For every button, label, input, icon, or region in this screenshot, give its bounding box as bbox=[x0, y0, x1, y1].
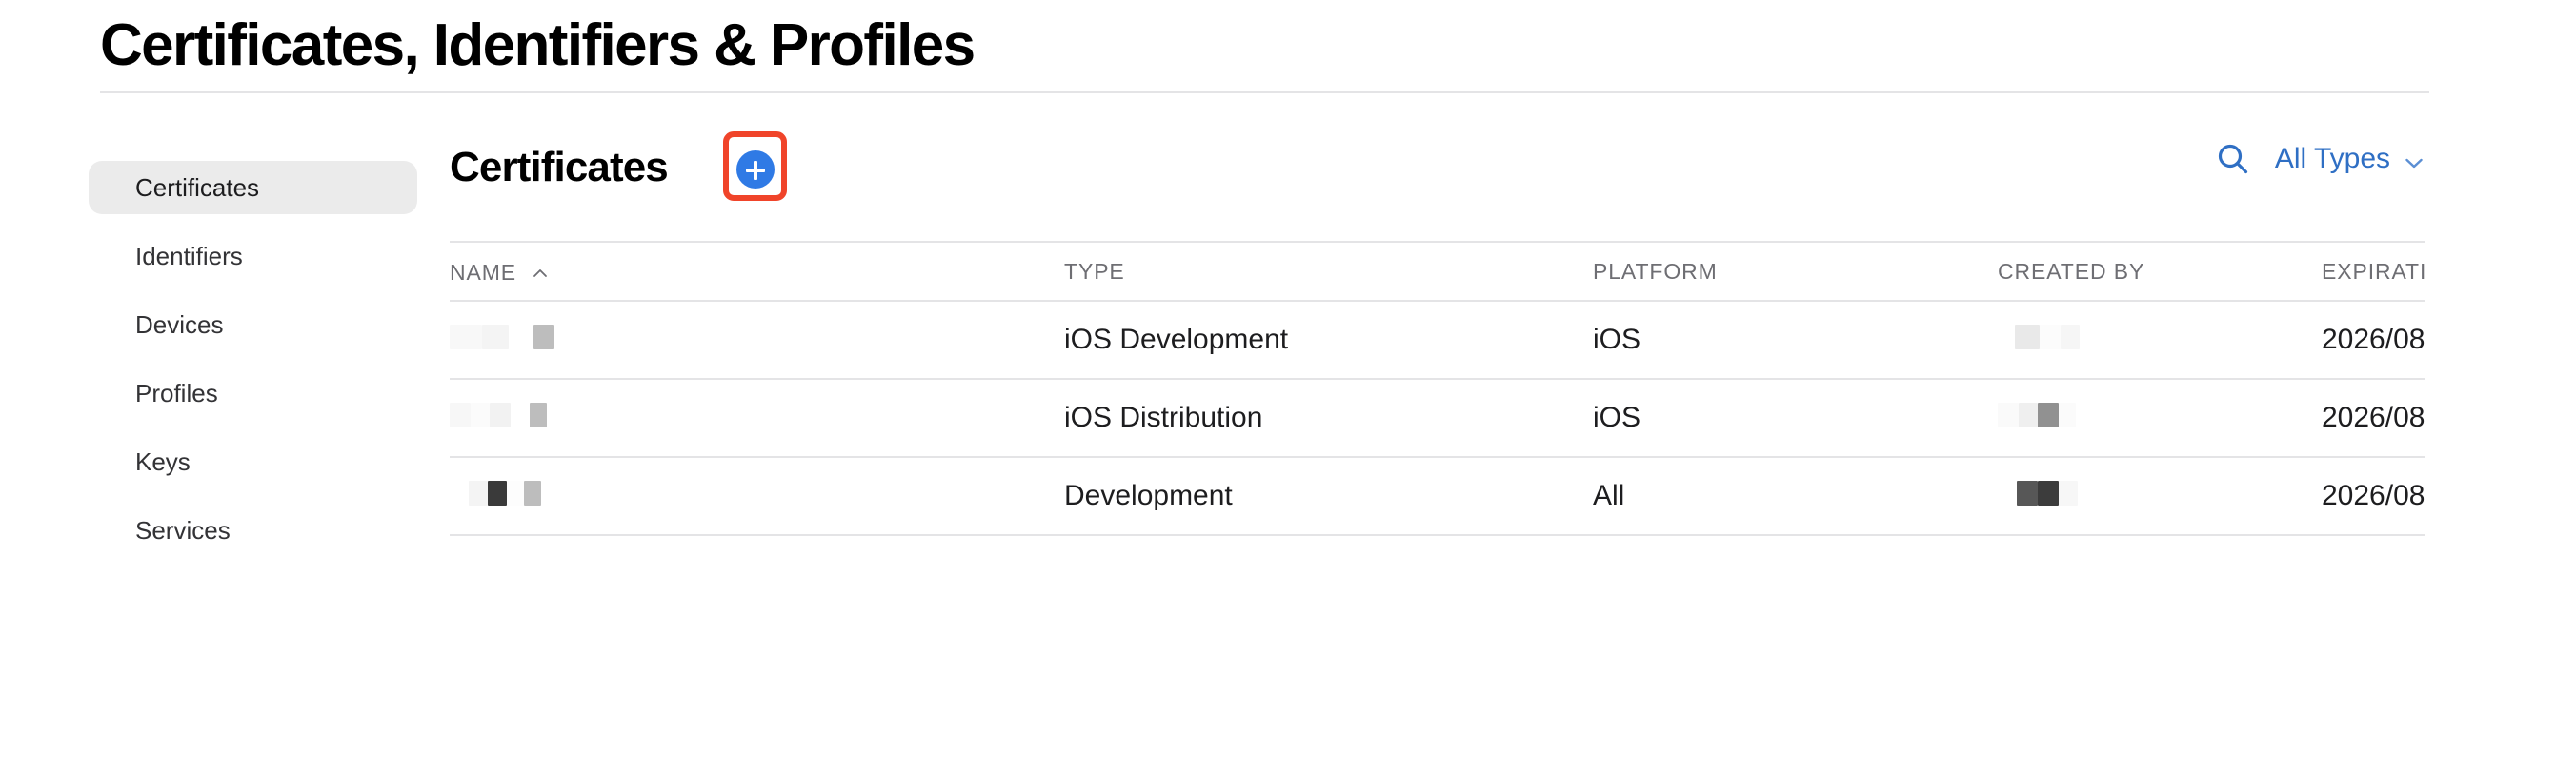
table-bottom-divider bbox=[450, 534, 2425, 536]
sidebar-item-label: Services bbox=[135, 516, 231, 545]
redacted-created-by bbox=[1998, 323, 2080, 351]
plus-circle-icon[interactable] bbox=[736, 150, 775, 189]
certificates-table: NAME TYPE PLATFORM CREATED BY EXPIRATION bbox=[450, 241, 2425, 536]
sidebar-item-label: Certificates bbox=[135, 173, 259, 202]
column-header-name[interactable]: NAME bbox=[450, 258, 1064, 286]
cell-type: iOS Development bbox=[1064, 324, 1593, 356]
content-header: Certificates All Types bbox=[450, 100, 2425, 201]
title-divider bbox=[100, 91, 2429, 93]
sidebar-item-label: Profiles bbox=[135, 379, 218, 407]
cell-name bbox=[450, 479, 1064, 513]
type-filter-dropdown[interactable]: All Types bbox=[2275, 143, 2425, 175]
cell-platform: All bbox=[1593, 480, 1998, 512]
sidebar-item-services[interactable]: Services bbox=[89, 504, 417, 557]
sidebar-item-keys[interactable]: Keys bbox=[89, 435, 417, 488]
cell-created-by bbox=[1998, 323, 2322, 357]
table-row[interactable]: iOS Development iOS 2026/08/15 bbox=[450, 300, 2425, 378]
sidebar-item-devices[interactable]: Devices bbox=[89, 298, 417, 351]
sidebar-item-identifiers[interactable]: Identifiers bbox=[89, 229, 417, 283]
column-header-type[interactable]: TYPE bbox=[1064, 259, 1593, 285]
sidebar-item-certificates[interactable]: Certificates bbox=[89, 161, 417, 214]
redacted-name bbox=[450, 479, 541, 507]
sidebar-item-label: Identifiers bbox=[135, 242, 243, 270]
column-header-expiration[interactable]: EXPIRATION bbox=[2322, 259, 2425, 285]
sidebar-item-label: Devices bbox=[135, 310, 223, 339]
page-header: Certificates, Identifiers & Profiles bbox=[0, 0, 2576, 100]
redacted-created-by bbox=[1998, 479, 2078, 507]
page-title: Certificates, Identifiers & Profiles bbox=[100, 11, 974, 79]
sidebar-item-profiles[interactable]: Profiles bbox=[89, 367, 417, 420]
redacted-name bbox=[450, 401, 547, 429]
column-header-name-label: NAME bbox=[450, 260, 516, 285]
type-filter-label: All Types bbox=[2275, 143, 2390, 175]
redacted-name bbox=[450, 323, 554, 351]
sidebar-item-label: Keys bbox=[135, 447, 191, 476]
cell-platform: iOS bbox=[1593, 324, 1998, 356]
table-header-row: NAME TYPE PLATFORM CREATED BY EXPIRATION bbox=[450, 241, 2425, 300]
cell-expiration: 2026/08/15 bbox=[2322, 324, 2425, 356]
cell-type: iOS Distribution bbox=[1064, 402, 1593, 434]
cell-created-by bbox=[1998, 479, 2322, 513]
column-header-created-by[interactable]: CREATED BY bbox=[1998, 259, 2322, 285]
cell-name bbox=[450, 401, 1064, 435]
cell-platform: iOS bbox=[1593, 402, 1998, 434]
search-icon[interactable] bbox=[2216, 142, 2250, 176]
cell-expiration: 2026/08/18 bbox=[2322, 480, 2425, 512]
redacted-created-by bbox=[1998, 401, 2076, 429]
cell-type: Development bbox=[1064, 480, 1593, 512]
chevron-down-icon bbox=[2404, 149, 2425, 169]
section-title: Certificates bbox=[450, 144, 668, 191]
sort-ascending-icon bbox=[533, 258, 548, 268]
column-header-platform[interactable]: PLATFORM bbox=[1593, 259, 1998, 285]
main-content: Certificates All Types bbox=[450, 100, 2425, 201]
page-layout: Certificates Identifiers Devices Profile… bbox=[0, 100, 2576, 775]
cell-created-by bbox=[1998, 401, 2322, 435]
table-filters: All Types bbox=[2216, 142, 2425, 176]
sidebar: Certificates Identifiers Devices Profile… bbox=[89, 161, 417, 572]
table-row[interactable]: Development All 2026/08/18 bbox=[450, 456, 2425, 534]
table-row[interactable]: iOS Distribution iOS 2026/08/18 bbox=[450, 378, 2425, 456]
cell-expiration: 2026/08/18 bbox=[2322, 402, 2425, 434]
cell-name bbox=[450, 323, 1064, 357]
